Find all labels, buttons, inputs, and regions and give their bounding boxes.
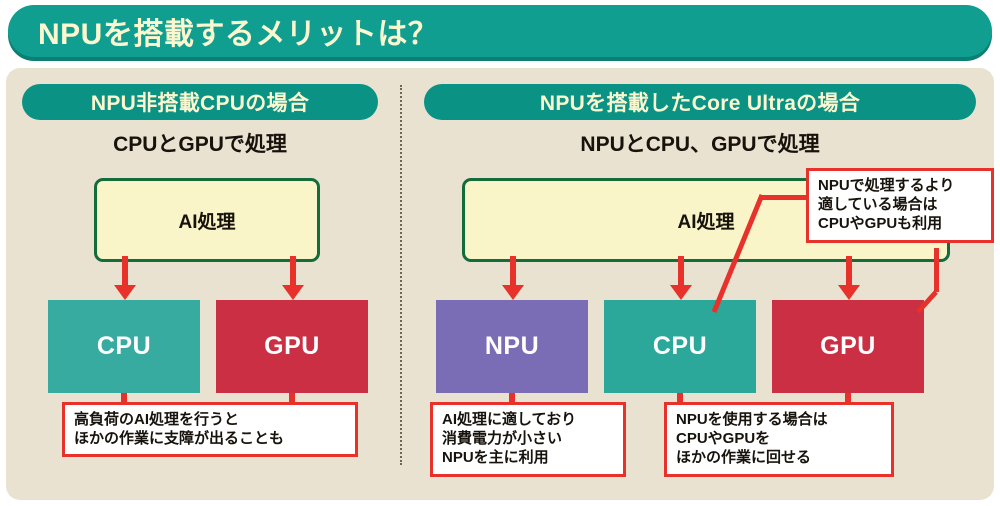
arrow-ai-to-gpu-right [838,256,860,300]
note-high-load: 高負荷のAI処理を行うと ほかの作業に支障が出ることも [62,402,358,457]
note-line: CPUやGPUも利用 [818,214,983,233]
note-fallback: NPUで処理するより 適している場合は CPUやGPUも利用 [806,168,994,243]
section-subtitle-with-npu: NPUとCPU、GPUで処理 [424,128,976,158]
ai-process-label: AI処理 [178,207,235,234]
note-line: 高負荷のAI処理を行うと [74,410,347,429]
arrow-ai-to-gpu-left [282,256,304,300]
header-bar: NPUを搭載するメリットは？ [8,5,992,57]
note-npu-primary: AI処理に適しており 消費電力が小さい NPUを主に利用 [430,402,626,477]
section-divider [400,85,402,465]
note-line: 消費電力が小さい [442,429,615,448]
section-heading-label: NPUを搭載したCore Ultraの場合 [540,87,860,117]
note-line: ほかの作業に回せる [676,448,883,467]
note-line: NPUを使用する場合は [676,410,883,429]
section-heading-with-npu: NPUを搭載したCore Ultraの場合 [424,84,976,120]
page-title: NPUを搭載するメリットは？ [38,9,438,53]
arrow-ai-to-npu-right [502,256,524,300]
note-line: NPUで処理するより [818,176,983,195]
note-line: ほかの作業に支障が出ることも [74,429,347,448]
section-heading-label: NPU非搭載CPUの場合 [91,87,309,117]
unit-box-gpu-left: GPU [216,300,368,393]
unit-label: CPU [97,332,151,361]
infographic-root: NPUを搭載するメリットは？ NPU非搭載CPUの場合 CPUとGPUで処理 A… [0,0,1000,506]
unit-label: NPU [485,332,539,361]
leader-fallback-diagonal-gpu [900,285,960,325]
note-line: 適している場合は [818,195,983,214]
note-line: NPUを主に利用 [442,448,615,467]
arrow-ai-to-cpu-right [670,256,692,300]
section-heading-no-npu: NPU非搭載CPUの場合 [22,84,378,120]
unit-label: CPU [653,332,707,361]
leader-fallback-diagonal [690,190,800,320]
unit-box-npu-right: NPU [436,300,588,393]
note-line: CPUやGPUを [676,429,883,448]
note-line: AI処理に適しており [442,410,615,429]
unit-box-cpu-left: CPU [48,300,200,393]
note-offload: NPUを使用する場合は CPUやGPUを ほかの作業に回せる [664,402,894,477]
unit-label: GPU [820,332,876,361]
arrow-ai-to-cpu-left [114,256,136,300]
ai-process-box-left: AI処理 [94,178,320,262]
section-subtitle-no-npu: CPUとGPUで処理 [22,128,378,158]
unit-label: GPU [264,332,320,361]
